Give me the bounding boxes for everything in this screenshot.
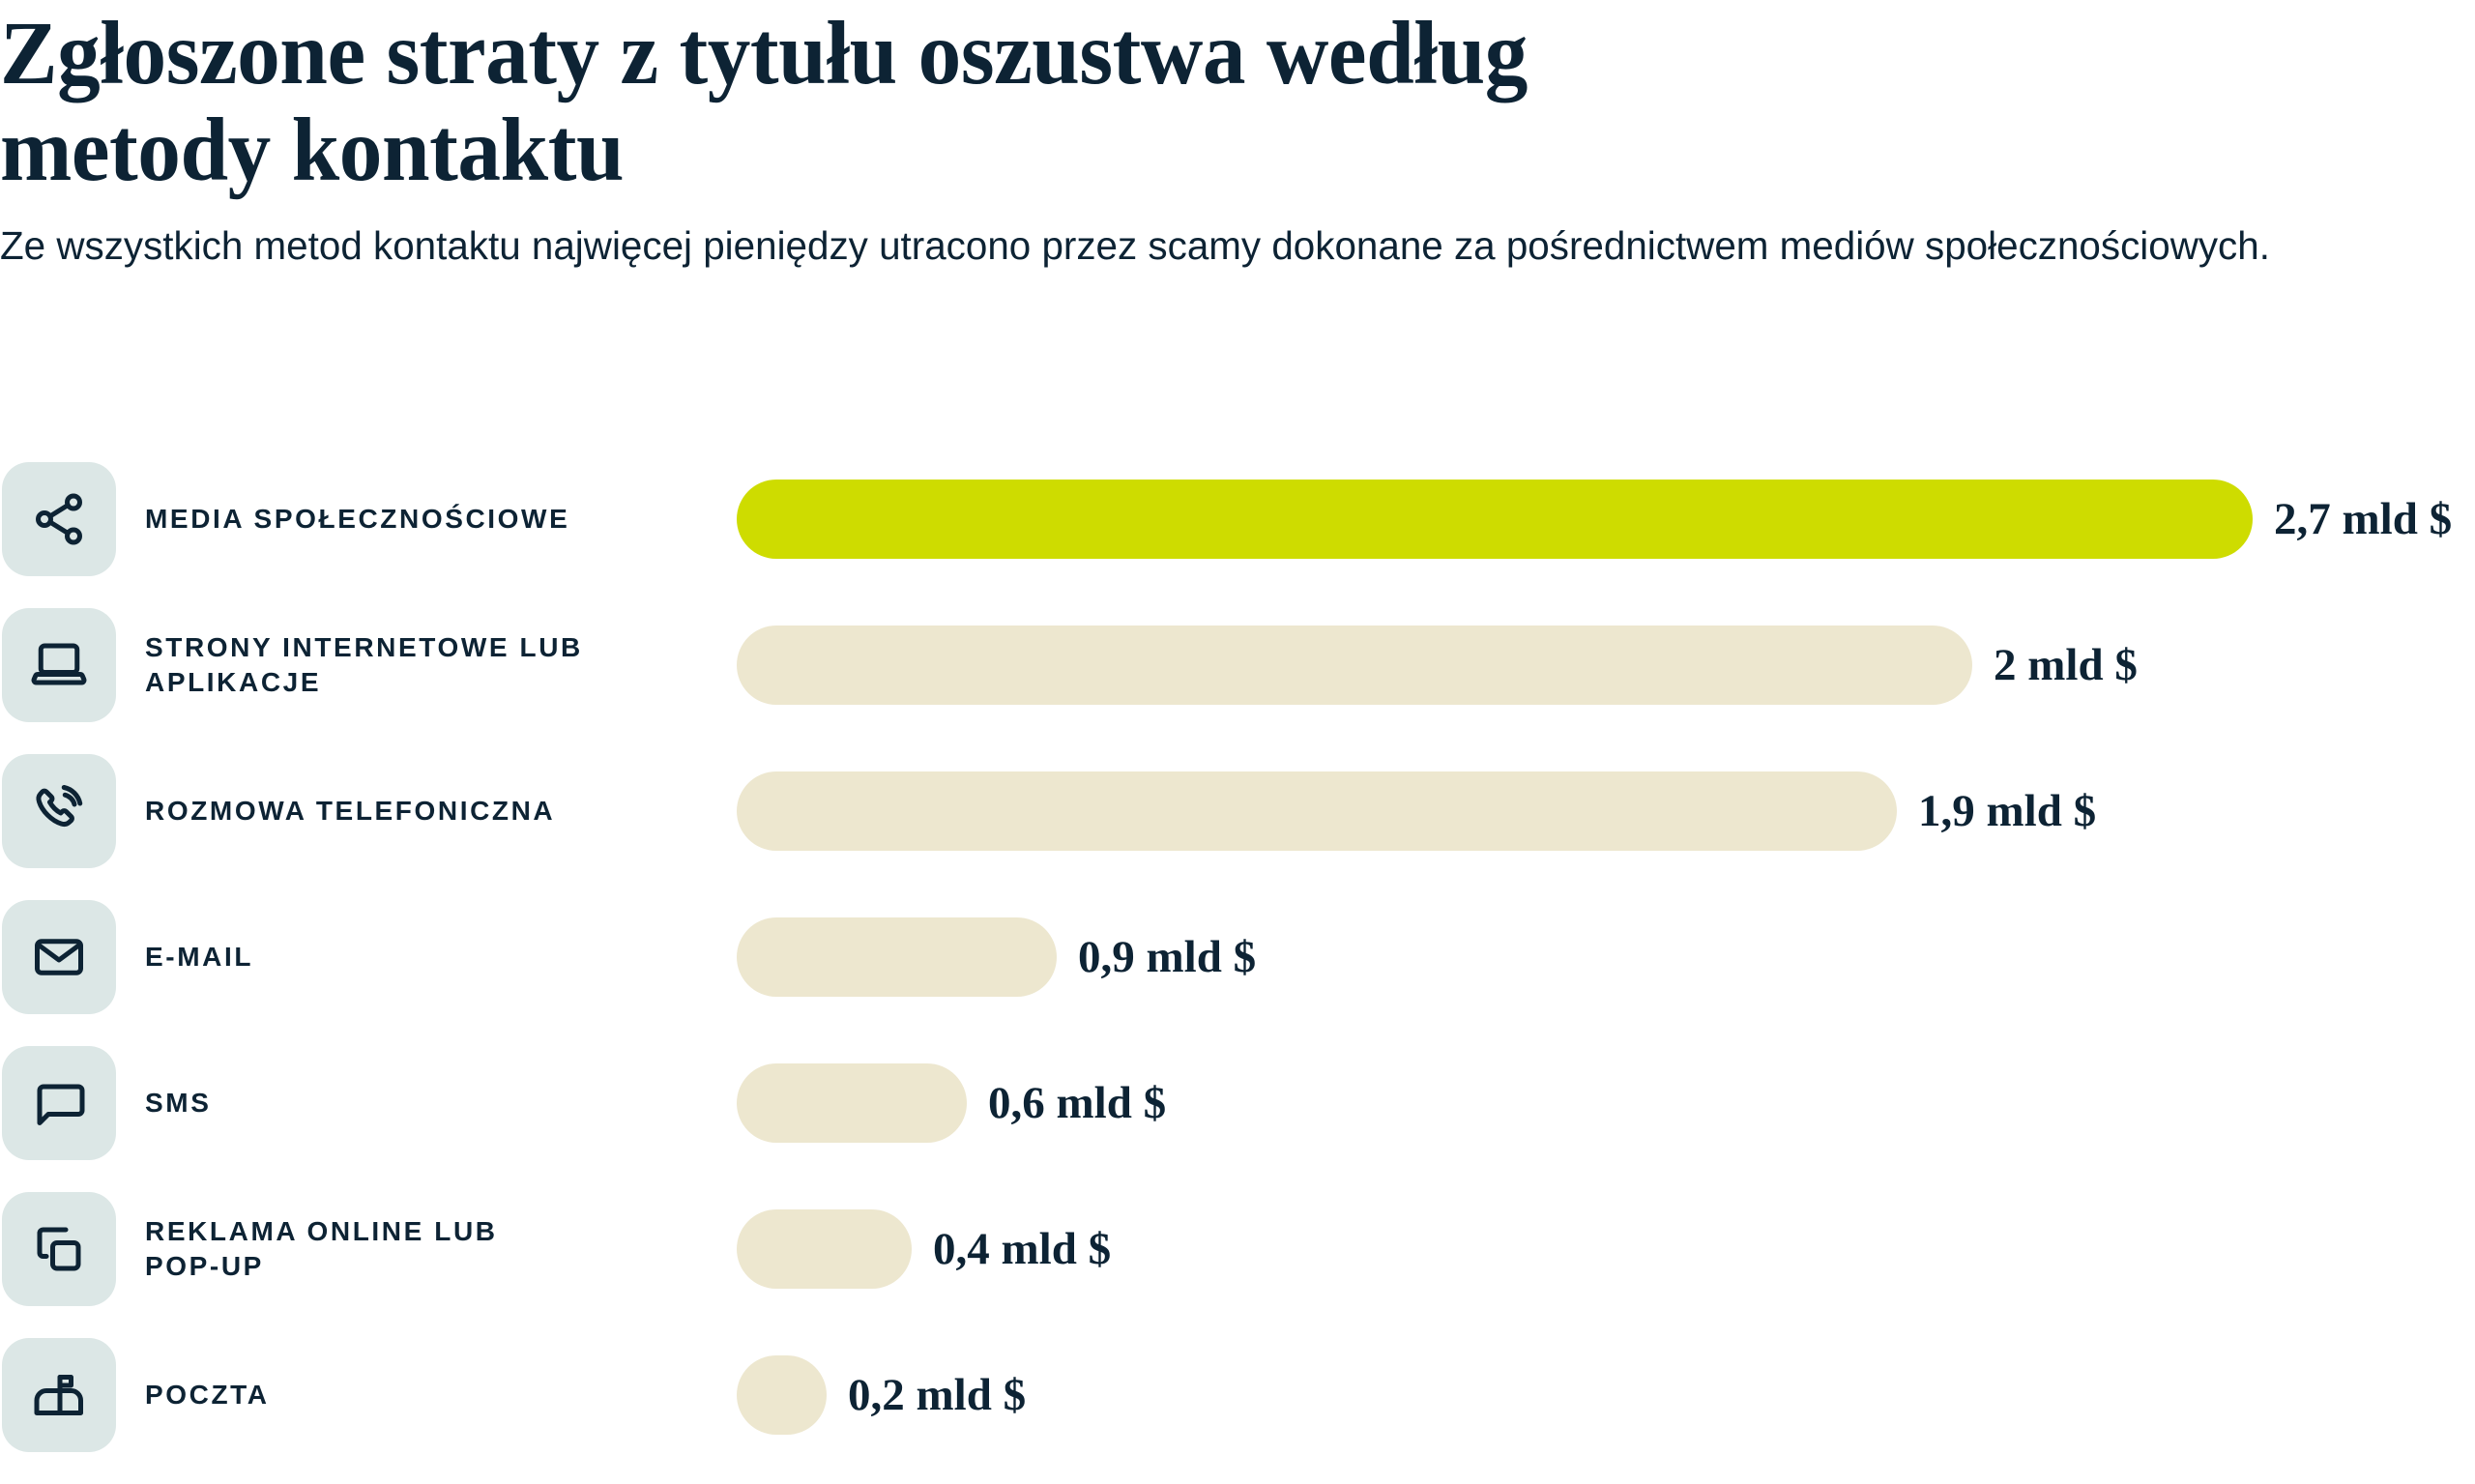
bar-value-label: 2,7 mld $ [2274,497,2452,542]
bar [737,771,1897,851]
bar-value-label: 2 mld $ [1994,643,2138,688]
laptop-icon [30,636,88,694]
bar-value-label: 0,2 mld $ [848,1373,1026,1418]
page-title: Zgłoszone straty z tytułu oszustwa wedłu… [0,0,2376,198]
phone-call-icon [30,782,88,840]
chart-row: REKLAMA ONLINE LUB POP-UP 0,4 mld $ [0,1192,2475,1338]
chart-row: E-MAIL 0,9 mld $ [0,900,2475,1046]
chart-row: STRONY INTERNETOWE LUB APLIKACJE 2 mld $ [0,608,2475,754]
bar-area: 0,4 mld $ [737,1192,2475,1306]
chart-page: Zgłoszone straty z tytułu oszustwa wedłu… [0,0,2475,1443]
icon-tile [2,1338,116,1452]
bar [737,1209,912,1289]
bar [737,917,1057,997]
icon-tile [2,608,116,722]
bar-area: 0,6 mld $ [737,1046,2475,1160]
row-label: REKLAMA ONLINE LUB POP-UP [145,1192,725,1306]
bar-value-label: 0,9 mld $ [1078,935,1256,980]
row-label: MEDIA SPOŁECZNOŚCIOWE [145,462,725,576]
row-label: POCZTA [145,1338,725,1452]
icon-tile [2,1192,116,1306]
row-label: E-MAIL [145,900,725,1014]
bar-value-label: 0,4 mld $ [933,1227,1111,1272]
row-label: STRONY INTERNETOWE LUB APLIKACJE [145,608,725,722]
popup-windows-icon [30,1220,88,1278]
icon-tile [2,900,116,1014]
bar [737,1355,827,1435]
bar-area: 2 mld $ [737,608,2475,722]
mailbox-icon [30,1366,88,1424]
icon-tile [2,462,116,576]
row-label: SMS [145,1046,725,1160]
bar-value-label: 0,6 mld $ [988,1081,1166,1126]
bar [737,1063,967,1143]
speech-bubble-icon [30,1074,88,1132]
bar-area: 2,7 mld $ [737,462,2475,576]
chart-row: ROZMOWA TELEFONICZNA 1,9 mld $ [0,754,2475,900]
chart-row: SMS 0,6 mld $ [0,1046,2475,1192]
row-label: ROZMOWA TELEFONICZNA [145,754,725,868]
bar-chart-rows: MEDIA SPOŁECZNOŚCIOWE 2,7 mld $ STRONY I… [0,462,2475,1484]
bar-area: 1,9 mld $ [737,754,2475,868]
envelope-icon [30,928,88,986]
share-icon [30,490,88,548]
icon-tile [2,754,116,868]
bar [737,480,2253,559]
bar [737,626,1972,705]
icon-tile [2,1046,116,1160]
chart-header: Zgłoszone straty z tytułu oszustwa wedłu… [0,0,2475,272]
bar-area: 0,2 mld $ [737,1338,2475,1452]
bar-area: 0,9 mld $ [737,900,2475,1014]
chart-row: POCZTA 0,2 mld $ [0,1338,2475,1484]
chart-subtitle: Ze wszystkich metod kontaktu najwięcej p… [0,198,2381,272]
chart-row: MEDIA SPOŁECZNOŚCIOWE 2,7 mld $ [0,462,2475,608]
bar-value-label: 1,9 mld $ [1918,789,2096,834]
